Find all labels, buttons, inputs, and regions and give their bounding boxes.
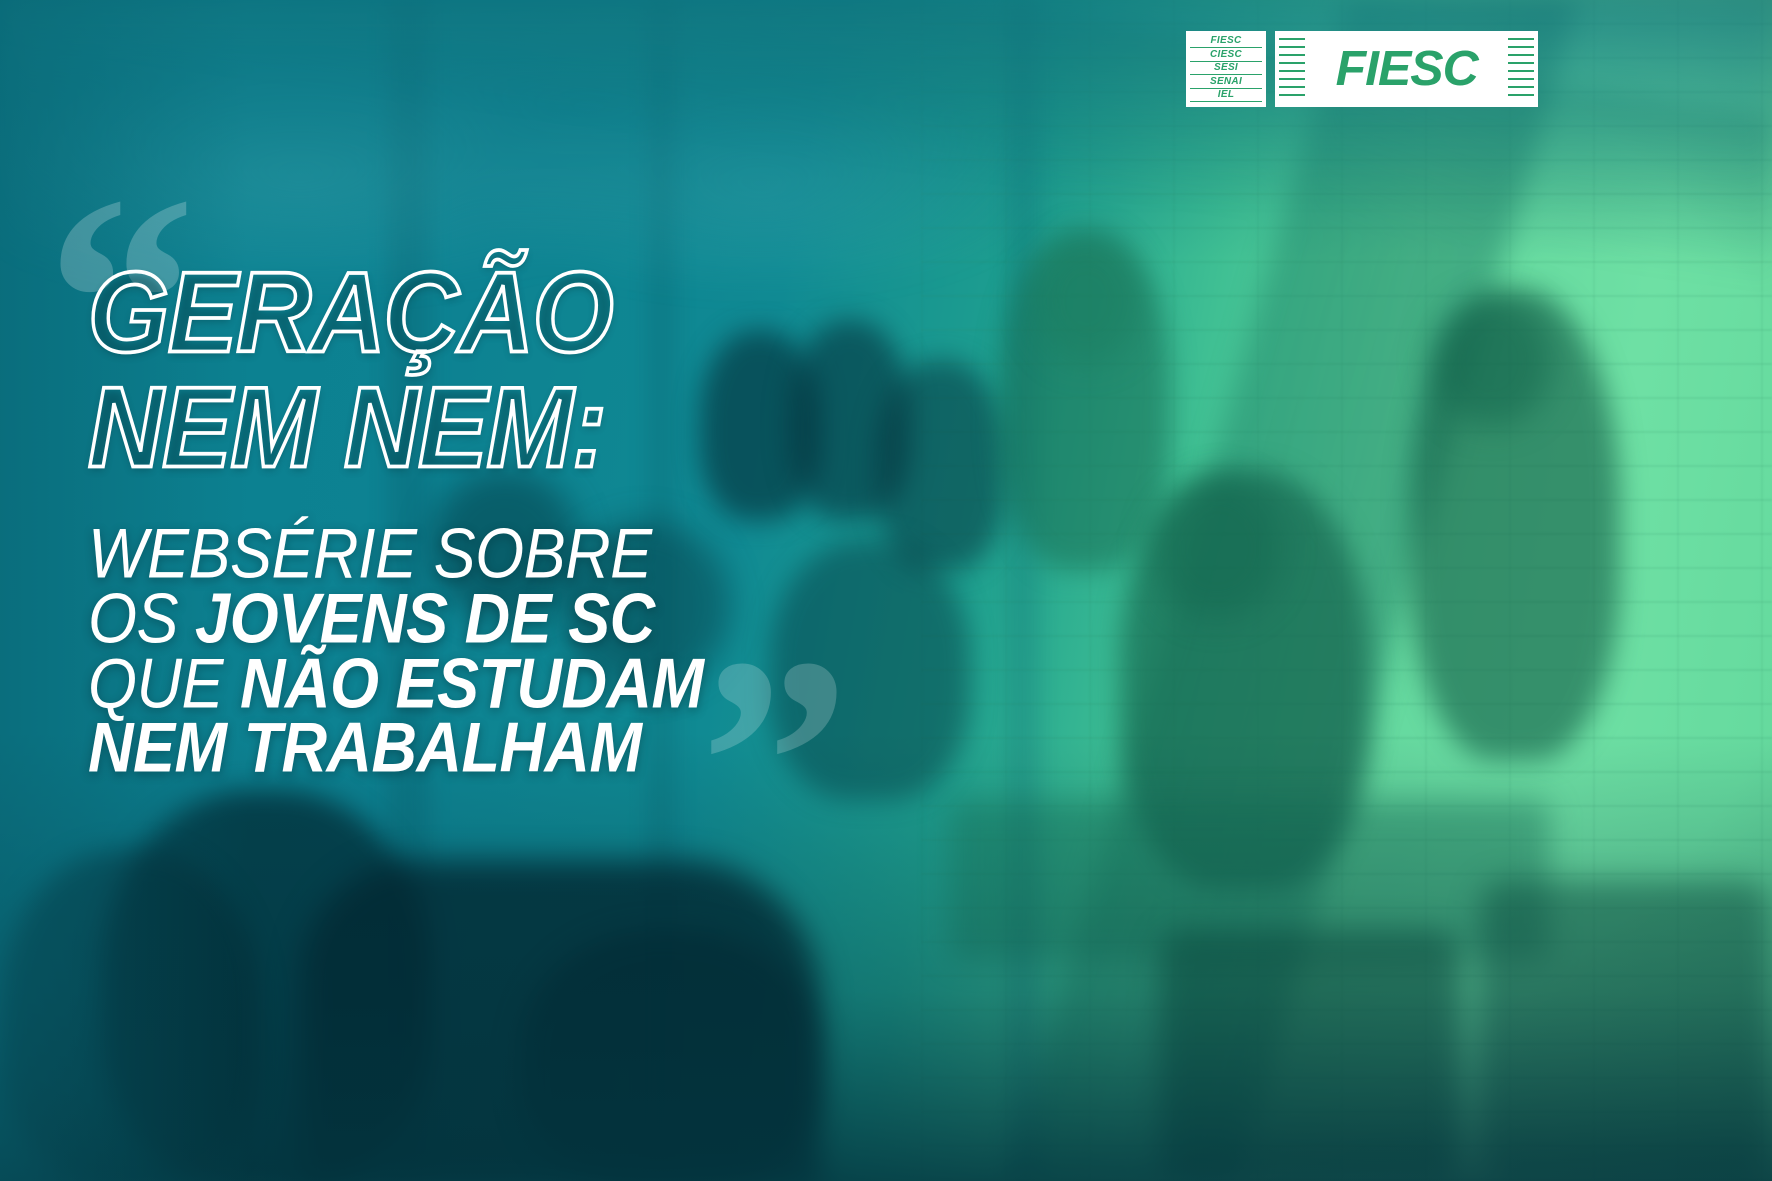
logo-entity-sesi: SESI (1190, 63, 1262, 75)
promo-banner: FIESC CIESC SESI SENAI IEL FIESC “ ” GER… (0, 0, 1772, 1181)
headline-block: GERAÇÃO NEM NEM: WEBSÉRIE SOBRE OS JOVEN… (88, 258, 908, 777)
fiesc-logo[interactable]: FIESC CIESC SESI SENAI IEL FIESC (1186, 31, 1538, 107)
logo-stripes-right-icon (1508, 38, 1534, 100)
subtitle-line-4: NEM TRABALHAM (88, 712, 908, 785)
subtitle-block: WEBSÉRIE SOBRE OS JOVENS DE SC QUE NÃO E… (88, 518, 908, 778)
logo-stripes-left-icon (1279, 38, 1305, 100)
logo-entity-iel: IEL (1190, 90, 1262, 102)
logo-entity-ciesc: CIESC (1190, 50, 1262, 62)
fiesc-entities-box: FIESC CIESC SESI SENAI IEL (1186, 31, 1266, 107)
fiesc-wordmark: FIESC (1335, 45, 1477, 94)
headline-line-1: GERAÇÃO (88, 258, 908, 369)
logo-entity-senai: SENAI (1190, 77, 1262, 89)
fiesc-wordmark-box: FIESC (1275, 31, 1538, 107)
logo-entity-fiesc: FIESC (1190, 36, 1262, 48)
headline-line-2: NEM NEM: (88, 373, 908, 484)
subtitle-line-4-bold: NEM TRABALHAM (88, 709, 641, 787)
